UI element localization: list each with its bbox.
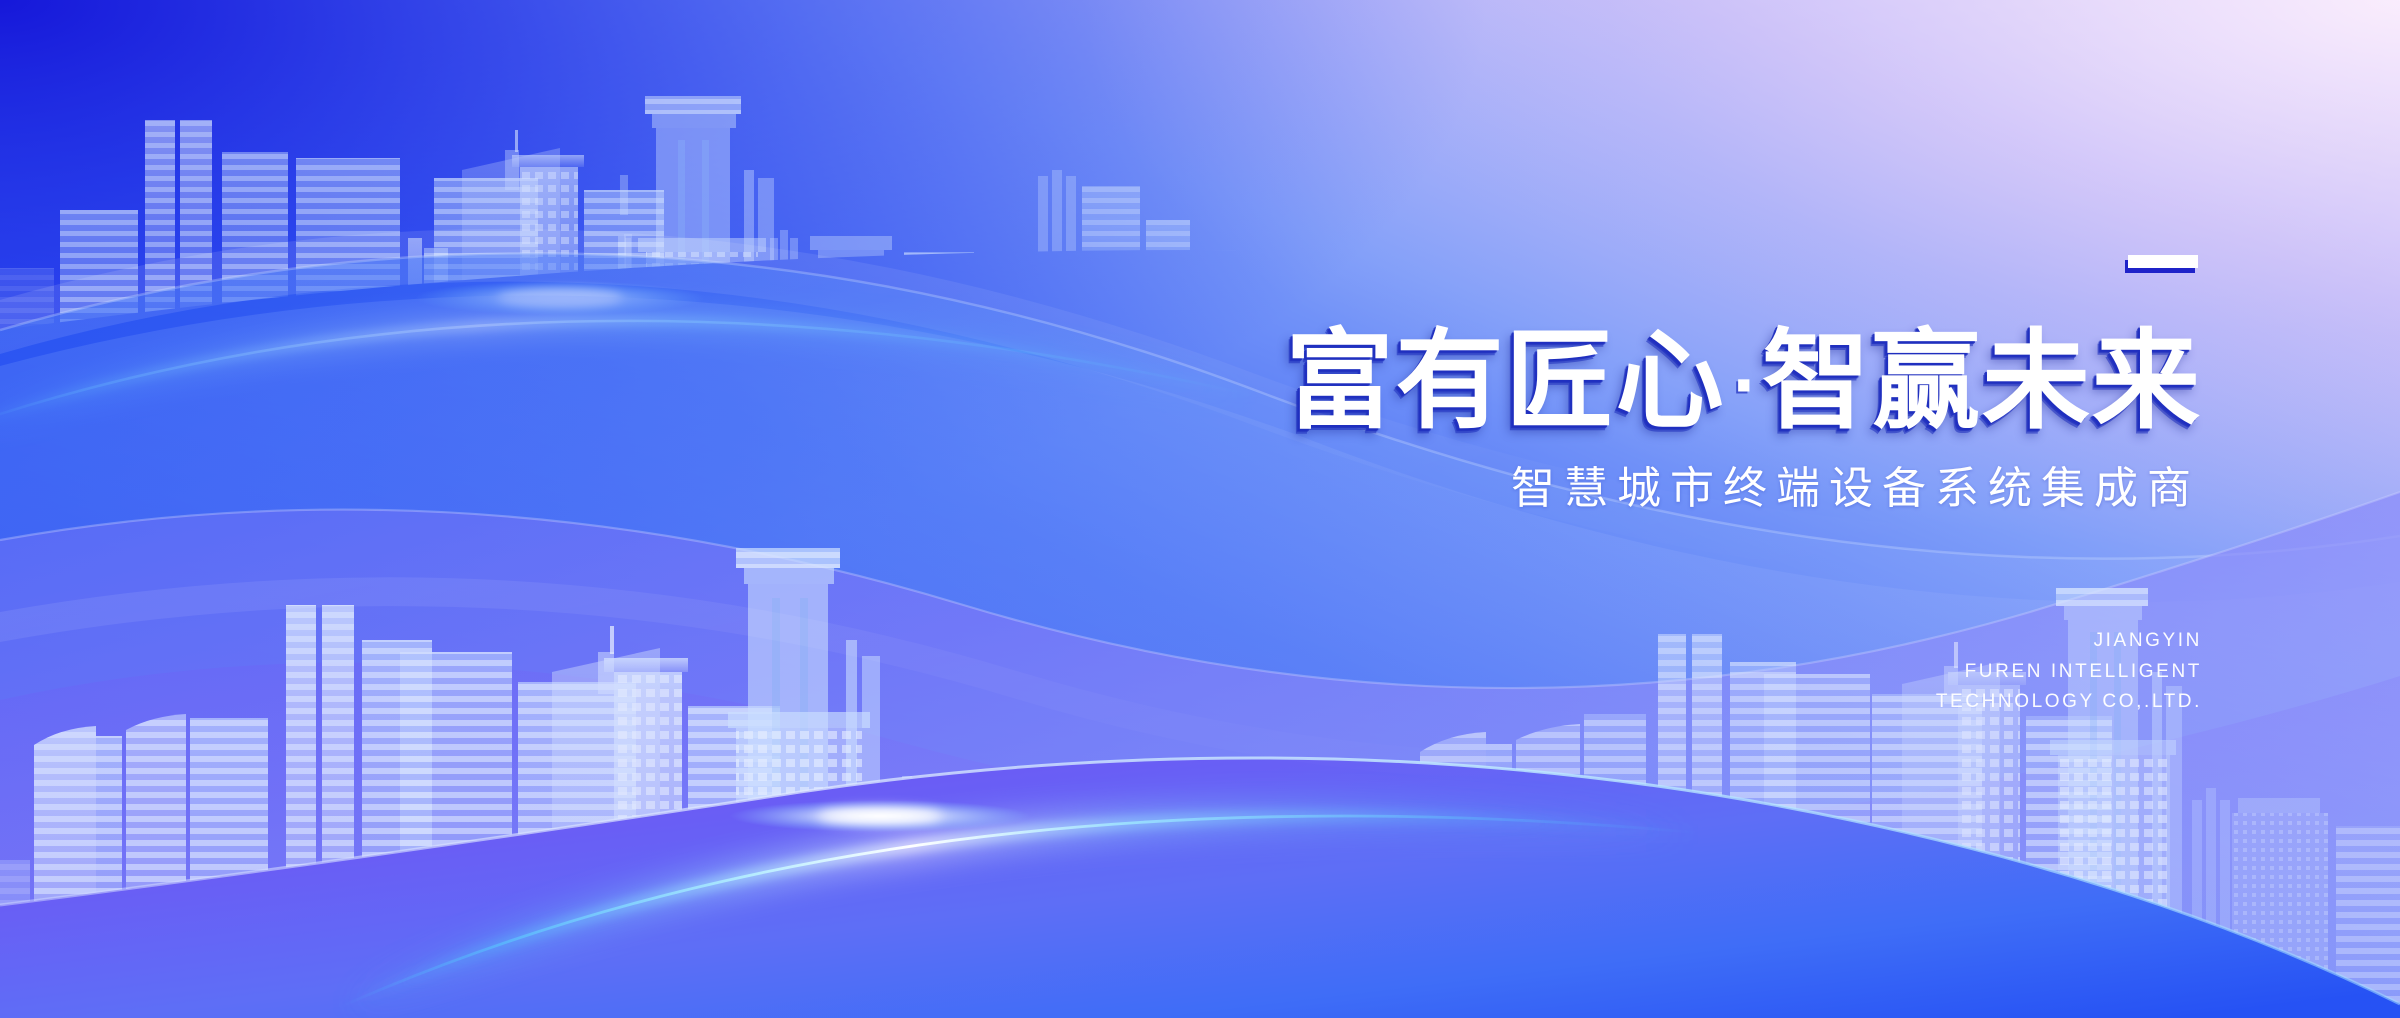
banner-text-block: 富有匠心·智赢未来 智慧城市终端设备系统集成商 JIANGYIN FUREN I…: [962, 255, 2202, 718]
hero-banner: 富有匠心·智赢未来 智慧城市终端设备系统集成商 JIANGYIN FUREN I…: [0, 0, 2400, 1018]
title-part-one: 富有匠心: [1286, 319, 1726, 444]
page-title: 富有匠心·智赢未来: [962, 325, 2202, 439]
company-name-english: JIANGYIN FUREN INTELLIGENT TECHNOLOGY CO…: [962, 626, 2202, 718]
title-part-two: 智赢未来: [1762, 319, 2202, 444]
title-separator-dot: ·: [1726, 350, 1762, 424]
accent-dash-icon: [2128, 255, 2198, 268]
page-subtitle: 智慧城市终端设备系统集成商: [962, 465, 2202, 513]
company-line-2: FUREN INTELLIGENT: [962, 657, 2202, 688]
company-line-1: JIANGYIN: [962, 626, 2202, 657]
company-line-3: TECHNOLOGY CO,.LTD.: [962, 687, 2202, 718]
